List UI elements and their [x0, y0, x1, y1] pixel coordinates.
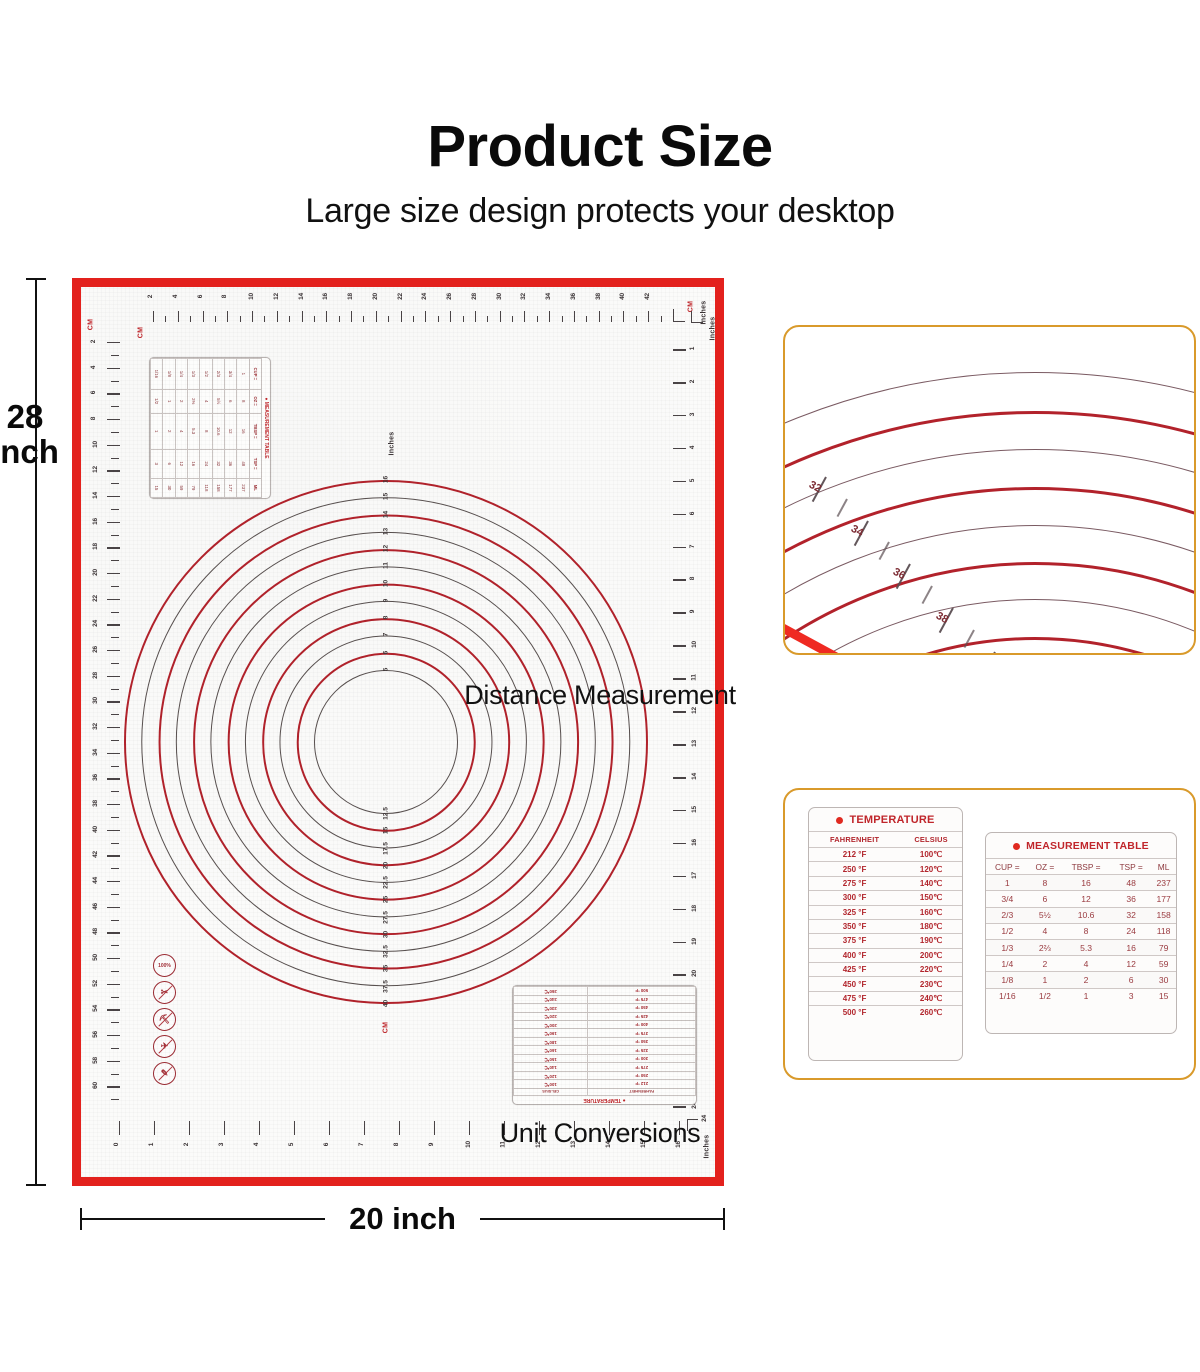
measurement-cell: 10.6 [1061, 907, 1111, 923]
mat-measurement-cell: 36 [225, 449, 237, 478]
temperature-cell: 150℃ [900, 891, 962, 905]
temperature-row: 325 °F160℃ [809, 905, 962, 919]
measurement-cell: 1/8 [986, 972, 1029, 988]
circle-label-inches: 8 [383, 616, 390, 620]
mat-measurement-cell: 79 [188, 478, 200, 497]
no-blade-icon: ✎ [153, 1062, 176, 1085]
measurement-cell: 2 [1029, 956, 1061, 972]
measurement-cell: 118 [1151, 923, 1176, 939]
mat-measurement-cell: 32 [212, 449, 224, 478]
temperature-card: TEMPERATURE FAHRENHEITCELSIUS 212 °F100℃… [808, 807, 963, 1061]
temperature-row: 275 °F140℃ [809, 876, 962, 890]
mat-temperature-row: 275 °F140℃ [514, 1063, 696, 1071]
mat-measurement-cell: 2 [163, 413, 175, 449]
mat-temperature-row: 500 °F260℃ [514, 987, 696, 996]
measurement-cell: 1 [1029, 972, 1061, 988]
mat-measurement-cell: 59 [175, 478, 187, 497]
mat-measurement-head: CUP =OZ =TBSP =TSP =ML [249, 359, 261, 498]
mat-temperature-head: FAHRENHEITCELSIUS [514, 1088, 696, 1095]
circle-label-cm: 25 [383, 896, 390, 903]
mat-temperature-cell: 240℃ [514, 995, 588, 1003]
mat-temperature-cell: 212 °F [588, 1080, 696, 1088]
product-size-infographic: Product Size Large size design protects … [0, 0, 1200, 1372]
temperature-row: 250 °F120℃ [809, 862, 962, 876]
circle-label-inches: 15 [383, 493, 390, 500]
measurement-cell: 1/4 [986, 956, 1029, 972]
measurement-row: 1/24824118 [986, 923, 1176, 939]
temperature-cell: 425 °F [809, 963, 900, 977]
mat-measurement-cell: 12 [175, 449, 187, 478]
measurement-cell: 158 [1151, 907, 1176, 923]
circle-label-inches: 5 [383, 668, 390, 672]
measurement-row: 1/4241259 [986, 956, 1176, 972]
mat-measurement-row: 181648237 [237, 359, 249, 498]
page-title: Product Size [0, 118, 1200, 176]
temperature-cell: 500 °F [809, 1006, 900, 1020]
measurement-cell: 1 [1061, 988, 1111, 1004]
temperature-table: FAHRENHEITCELSIUS 212 °F100℃250 °F120℃27… [809, 831, 962, 1020]
mat-measurement-cell: 6 [225, 389, 237, 413]
mat-measurement-cell: 1/3 [188, 359, 200, 390]
measurement-cell: 48 [1111, 875, 1151, 891]
mat-measurement-cell: 24 [200, 449, 212, 478]
temperature-column-header: CELSIUS [900, 832, 962, 848]
measurement-column-header: CUP = [986, 859, 1029, 875]
mat-measurement-row: 1/32⅔5.31679 [188, 359, 200, 498]
mat-measurement-col-header: TBSP = [249, 413, 261, 449]
measurement-cell: 6 [1029, 891, 1061, 907]
no-knife-icon: ⛏ [153, 1008, 176, 1031]
measurement-cell: 6 [1111, 972, 1151, 988]
circle-label-cm: 12.5 [383, 807, 390, 820]
mat-measurement-col-header: TSP = [249, 449, 261, 478]
measurement-row: 3/461236177 [986, 891, 1176, 907]
temperature-cell: 180℃ [900, 919, 962, 933]
measurement-card-title: MEASUREMENT TABLE [986, 833, 1176, 858]
dimension-cap-bottom [26, 1184, 46, 1186]
height-value: 28 [0, 400, 66, 435]
closeup-ruler-label: 34 [849, 522, 865, 538]
mat-measurement-cell: 1 [237, 359, 249, 390]
mat-temperature-col-header: CELSIUS [514, 1088, 588, 1095]
mat-measurement-cell: 48 [237, 449, 249, 478]
temperature-row: 500 °F260℃ [809, 1006, 962, 1020]
circle-label-inches: 10 [383, 579, 390, 586]
mat-temperature-row: 400 °F200℃ [514, 1020, 696, 1028]
mat-temperature-cell: 100℃ [514, 1080, 588, 1088]
mat-temperature-row: 212 °F100℃ [514, 1080, 696, 1088]
measurement-cell: 3/4 [986, 891, 1029, 907]
temperature-cell: 350 °F [809, 919, 900, 933]
measurement-cell: 2 [1061, 972, 1111, 988]
mat-temperature-cell: 190℃ [514, 1029, 588, 1037]
temperature-cell: 260℃ [900, 1006, 962, 1020]
mat-temperature-cell: 275 °F [588, 1063, 696, 1071]
100-percent-food-grade-icon: 100% [153, 954, 176, 977]
temperature-row: 375 °F190℃ [809, 934, 962, 948]
measurement-column-header: TSP = [1111, 859, 1151, 875]
temperature-row: 425 °F220℃ [809, 963, 962, 977]
measurement-cell: 16 [1061, 875, 1111, 891]
mat-temperature-cell: 350 °F [588, 1037, 696, 1045]
unit-conversions-caption: Unit Conversions [0, 1118, 1200, 1149]
temperature-cell: 160℃ [900, 905, 962, 919]
closeup-ruler-marks: 3234363840424446 [785, 327, 1194, 653]
distance-measurement-caption: Distance Measurement [0, 680, 1200, 711]
measurement-cell: 237 [1151, 875, 1176, 891]
temperature-cell: 220℃ [900, 963, 962, 977]
mat-measurement-row: 2/35½10.632158 [212, 359, 224, 498]
mat-measurement-cell: 1 [151, 413, 163, 449]
circle-label-inches: 13 [383, 528, 390, 535]
circle-label-cm: 35 [383, 965, 390, 972]
mat-measurement-cell: 12 [225, 413, 237, 449]
closeup-tick [837, 498, 848, 517]
measurement-cell: 1/2 [986, 923, 1029, 939]
measurement-table-body: 1816482373/4612361772/35½10.6321581/2482… [986, 875, 1176, 1004]
mat-measurement-cell: 5.3 [188, 413, 200, 449]
mat-measurement-cell: 237 [237, 478, 249, 497]
header: Product Size Large size design protects … [0, 118, 1200, 231]
mat-measurement-cell: 6 [163, 449, 175, 478]
measurement-cell: 8 [1061, 923, 1111, 939]
circle-label-cm: 32.5 [383, 945, 390, 958]
measurement-cell: 24 [1111, 923, 1151, 939]
mat-measurement-cell: 10.6 [212, 413, 224, 449]
temperature-row: 475 °F240℃ [809, 991, 962, 1005]
baking-mat: 42403836343230282624222018161412108642CM… [72, 278, 724, 1186]
measurement-table: CUP =OZ =TBSP =TSP =ML 1816482373/461236… [986, 858, 1176, 1004]
measurement-cell: 5.3 [1061, 939, 1111, 955]
mat-temperature-grid: FAHRENHEITCELSIUS212 °F100℃250 °F120℃275… [513, 986, 696, 1096]
care-icon-group: 100%✂⛏✈✎ [153, 954, 176, 1085]
mat-measurement-cell: 8 [237, 389, 249, 413]
mat-temperature-cell: 230℃ [514, 1004, 588, 1012]
temperature-table-body: 212 °F100℃250 °F120℃275 °F140℃300 °F150℃… [809, 848, 962, 1020]
temperature-cell: 240℃ [900, 991, 962, 1005]
measurement-cell: 177 [1151, 891, 1176, 907]
mat-temperature-cell: 200℃ [514, 1020, 588, 1028]
closeup-tick [879, 542, 890, 561]
measurement-cell: 3 [1111, 988, 1151, 1004]
circle-label-cm: 17.5 [383, 842, 390, 855]
circle-label-cm: 27.5 [383, 911, 390, 924]
mat-temperature-cell: 450 °F [588, 1004, 696, 1012]
circles-unit-cm: CM [382, 1022, 389, 1034]
mat-temperature-cell: 160℃ [514, 1046, 588, 1054]
temperature-row: 212 °F100℃ [809, 848, 962, 862]
temperature-cell: 375 °F [809, 934, 900, 948]
mat-temperature-row: 475 °F240℃ [514, 995, 696, 1003]
mat-measurement-cell: 4 [200, 389, 212, 413]
circle-label-cm: 22.5 [383, 876, 390, 889]
temperature-cell: 325 °F [809, 905, 900, 919]
temperature-cell: 120℃ [900, 862, 962, 876]
circle-label-inches: 14 [383, 510, 390, 517]
mat-measurement-cell: 2⅔ [188, 389, 200, 413]
circle-label-inches: 7 [383, 633, 390, 637]
circle-label-cm: 15 [383, 827, 390, 834]
mat-temperature-row: 425 °F220℃ [514, 1012, 696, 1020]
bullet-dot-icon [1013, 843, 1020, 850]
temperature-cell: 450 °F [809, 977, 900, 991]
measurement-cell: 5½ [1029, 907, 1061, 923]
mat-temperature-row: 375 °F190℃ [514, 1029, 696, 1037]
temperature-cell: 100℃ [900, 848, 962, 862]
mat-temperature-cell: 325 °F [588, 1046, 696, 1054]
care-icon-glyph: 100% [154, 955, 175, 976]
closeup-tick [981, 651, 996, 655]
mat-measurement-cell: 8 [200, 413, 212, 449]
mat-measurement-table: ● MEASUREMENT TABLECUP =OZ =TBSP =TSP =M… [149, 357, 271, 499]
mat-temperature-cell: 500 °F [588, 987, 696, 996]
page-subtitle: Large size design protects your desktop [0, 192, 1200, 231]
measurement-cell: 1/2 [1029, 988, 1061, 1004]
measurement-cell: 36 [1111, 891, 1151, 907]
temperature-cell: 212 °F [809, 848, 900, 862]
mat-temperature-cell: 180℃ [514, 1037, 588, 1045]
measurement-row: 1/812630 [986, 972, 1176, 988]
mat-measurement-cell: 3 [151, 449, 163, 478]
mat-measurement-cell: 1/4 [175, 359, 187, 390]
closeup-tick [963, 629, 974, 648]
measurement-cell: 59 [1151, 956, 1176, 972]
closeup-ruler-label: 40 [976, 653, 992, 655]
mat-measurement-title: ● MEASUREMENT TABLE [262, 358, 270, 498]
mat-surface: 42403836343230282624222018161412108642CM… [81, 287, 715, 1177]
mat-temperature-row: 450 °F230℃ [514, 1004, 696, 1012]
mat-measurement-cell: 158 [212, 478, 224, 497]
closeup-tick [921, 586, 932, 605]
mat-temperature-cell: 300 °F [588, 1054, 696, 1062]
mat-temperature-cell: 425 °F [588, 1012, 696, 1020]
measurement-card: MEASUREMENT TABLE CUP =OZ =TBSP =TSP =ML… [985, 832, 1177, 1034]
measurement-cell: 30 [1151, 972, 1176, 988]
mat-measurement-cell: 3/4 [225, 359, 237, 390]
measurement-cell: 4 [1029, 923, 1061, 939]
measurement-cell: 4 [1061, 956, 1111, 972]
mat-temperature-title: ● TEMPERATURE [513, 1096, 696, 1104]
no-flame-icon: ✈ [153, 1035, 176, 1058]
mat-measurement-grid: CUP =OZ =TBSP =TSP =ML1816482373/4612361… [150, 358, 262, 498]
mat-temperature-cell: 120℃ [514, 1071, 588, 1079]
mat-measurement-cell: 1/16 [151, 359, 163, 390]
temperature-row: 450 °F230℃ [809, 977, 962, 991]
mat-temperature-col-header: FAHRENHEIT [588, 1088, 696, 1095]
mat-measurement-row: 1/24824118 [200, 359, 212, 498]
temperature-cell: 230℃ [900, 977, 962, 991]
circle-label-cm: 40 [383, 1000, 390, 1007]
mat-measurement-cell: 1/8 [163, 359, 175, 390]
temperature-row: 350 °F180℃ [809, 919, 962, 933]
circle-label-inches: 9 [383, 599, 390, 603]
measurement-cell: 32 [1111, 907, 1151, 923]
mat-temperature-cell: 260℃ [514, 987, 588, 996]
circle-label-inches: 6 [383, 650, 390, 654]
measurement-cell: 1/16 [986, 988, 1029, 1004]
bullet-dot-icon [836, 817, 843, 824]
mat-temperature-cell: 150℃ [514, 1054, 588, 1062]
mat-measurement-col-header: OZ = [249, 389, 261, 413]
measurement-cell: 79 [1151, 939, 1176, 955]
mat-measurement-cell: 1/2 [151, 389, 163, 413]
distance-measurement-closeup: 3234363840424446 [785, 327, 1194, 653]
mat-temperature-cell: 250 °F [588, 1071, 696, 1079]
mat-temperature-row: 250 °F120℃ [514, 1071, 696, 1079]
temperature-title-text: TEMPERATURE [849, 814, 934, 826]
measurement-column-header: OZ = [1029, 859, 1061, 875]
mat-measurement-cell: 1/2 [200, 359, 212, 390]
temperature-cell: 140℃ [900, 876, 962, 890]
width-dimension-label: 20 inch [80, 1204, 725, 1234]
mat-temperature-cell: 475 °F [588, 995, 696, 1003]
closeup-ruler-label: 32 [807, 479, 823, 495]
circle-label-inches: 12 [383, 545, 390, 552]
mat-measurement-cell: 118 [200, 478, 212, 497]
height-unit: inch [0, 435, 66, 470]
mat-measurement-row: 1/4241259 [175, 359, 187, 498]
mat-measurement-cell: 1 [163, 389, 175, 413]
temperature-row: 300 °F150℃ [809, 891, 962, 905]
no-scissors-icon: ✂ [153, 981, 176, 1004]
mat-measurement-cell: 2 [175, 389, 187, 413]
circle-label-cm: 30 [383, 931, 390, 938]
temperature-table-head: FAHRENHEITCELSIUS [809, 832, 962, 848]
measurement-cell: 1/3 [986, 939, 1029, 955]
temperature-cell: 190℃ [900, 934, 962, 948]
height-dimension-label: 28 inch [0, 400, 66, 469]
temperature-card-title: TEMPERATURE [809, 808, 962, 831]
mat-temperature-cell: 140℃ [514, 1063, 588, 1071]
mat-temperature-cell: 220℃ [514, 1012, 588, 1020]
measurement-cell: 2/3 [986, 907, 1029, 923]
circle-label-inches: 16 [383, 476, 390, 483]
mat-measurement-cell: 177 [225, 478, 237, 497]
temperature-cell: 250 °F [809, 862, 900, 876]
mat-temperature-table: ● TEMPERATUREFAHRENHEITCELSIUS212 °F100℃… [512, 985, 697, 1105]
mat-measurement-cell: 30 [163, 478, 175, 497]
mat-measurement-cell: 2/3 [212, 359, 224, 390]
mat-temperature-row: 300 °F150℃ [514, 1054, 696, 1062]
measurement-cell: 8 [1029, 875, 1061, 891]
mat-measurement-cell: 4 [175, 413, 187, 449]
mat-measurement-cell: 5½ [212, 389, 224, 413]
circles-unit-inches: Inches [388, 432, 395, 456]
measurement-cell: 1 [986, 875, 1029, 891]
temperature-cell: 400 °F [809, 948, 900, 962]
mat-temperature-cell: 375 °F [588, 1029, 696, 1037]
mat-measurement-cell: 16 [188, 449, 200, 478]
circle-label-cm: 37.5 [383, 980, 390, 993]
temperature-column-header: FAHRENHEIT [809, 832, 900, 848]
mat-measurement-cell: 15 [151, 478, 163, 497]
closeup-ruler-label: 38 [934, 610, 950, 626]
mat-measurement-cell: 16 [237, 413, 249, 449]
measurement-title-text: MEASUREMENT TABLE [1026, 840, 1149, 852]
temperature-cell: 300 °F [809, 891, 900, 905]
circle-label-cm: 20 [383, 862, 390, 869]
mat-measurement-col-header: ML [249, 478, 261, 497]
temperature-cell: 475 °F [809, 991, 900, 1005]
distance-measurement-panel: 3234363840424446 [783, 325, 1196, 655]
measurement-column-header: ML [1151, 859, 1176, 875]
measurement-column-header: TBSP = [1061, 859, 1111, 875]
unit-conversions-panel: TEMPERATURE FAHRENHEITCELSIUS 212 °F100℃… [783, 788, 1196, 1080]
mat-temperature-cell: 400 °F [588, 1020, 696, 1028]
measurement-cell: 2⅔ [1029, 939, 1061, 955]
measurement-row: 2/35½10.632158 [986, 907, 1176, 923]
measurement-table-head: CUP =OZ =TBSP =TSP =ML [986, 859, 1176, 875]
mat-temperature-row: 350 °F180℃ [514, 1037, 696, 1045]
measurement-cell: 12 [1111, 956, 1151, 972]
measurement-cell: 15 [1151, 988, 1176, 1004]
mat-measurement-col-header: CUP = [249, 359, 261, 390]
measurement-row: 181648237 [986, 875, 1176, 891]
measurement-row: 1/161/21315 [986, 988, 1176, 1004]
mat-measurement-row: 1/161/21315 [151, 359, 163, 498]
measurement-cell: 16 [1111, 939, 1151, 955]
temperature-cell: 275 °F [809, 876, 900, 890]
mat-measurement-row: 1/812630 [163, 359, 175, 498]
mat-measurement-row: 3/461236177 [225, 359, 237, 498]
measurement-row: 1/32⅔5.31679 [986, 939, 1176, 955]
circle-label-inches: 11 [383, 562, 390, 569]
temperature-cell: 200℃ [900, 948, 962, 962]
temperature-row: 400 °F200℃ [809, 948, 962, 962]
measurement-cell: 12 [1061, 891, 1111, 907]
mat-temperature-row: 325 °F160℃ [514, 1046, 696, 1054]
